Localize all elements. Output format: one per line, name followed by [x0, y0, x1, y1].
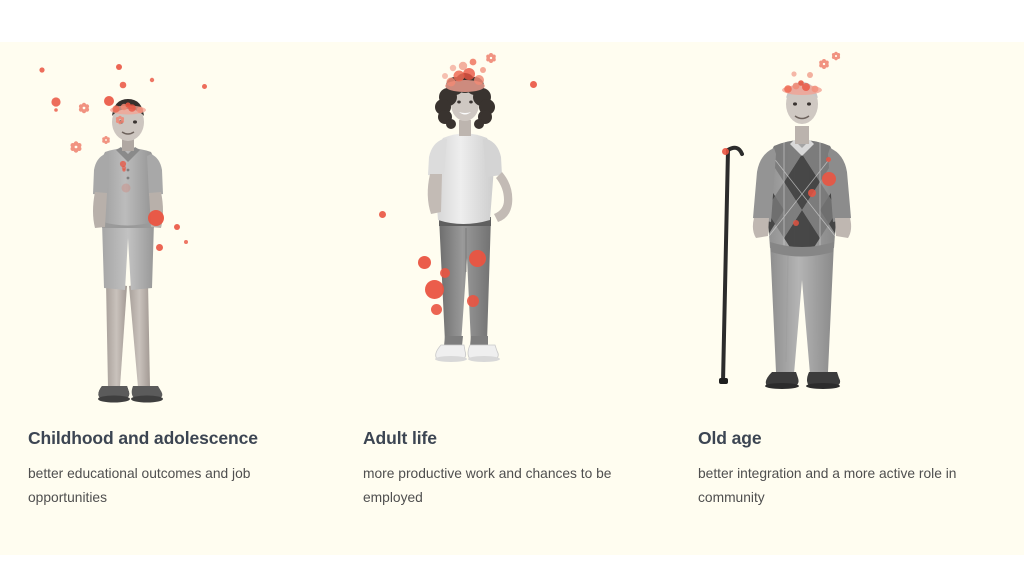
- accent-dot: [431, 304, 442, 315]
- three-column-grid: Childhood and adolescence better educati…: [0, 42, 1024, 555]
- accent-dot: [104, 96, 114, 106]
- accent-dot: [116, 64, 122, 70]
- flower-crown-decoration: [110, 102, 146, 114]
- elderly-figure-area: [698, 42, 1018, 420]
- flower-sprites: [819, 52, 840, 69]
- accent-dot: [467, 295, 479, 307]
- child-boy-photo: [28, 42, 348, 420]
- slide-root: Childhood and adolescence better educati…: [0, 0, 1024, 576]
- caption-title: Adult life: [363, 428, 675, 449]
- column-childhood: Childhood and adolescence better educati…: [28, 42, 363, 555]
- accent-dot: [826, 157, 831, 162]
- accent-dot: [530, 81, 537, 88]
- column-adult-life: Adult life more productive work and chan…: [363, 42, 698, 555]
- accent-dot: [793, 220, 799, 226]
- column-old-age: Old age better integration and a more ac…: [698, 42, 1024, 555]
- child-figure-area: [28, 42, 348, 420]
- caption-adult-life: Adult life more productive work and chan…: [363, 428, 675, 509]
- adult-figure-area: [363, 42, 683, 420]
- accent-dot: [156, 244, 163, 251]
- caption-title: Childhood and adolescence: [28, 428, 340, 449]
- accent-dot: [174, 224, 180, 230]
- accent-dot: [469, 250, 486, 267]
- caption-description: better integration and a more active rol…: [698, 462, 1003, 509]
- accent-dot: [184, 240, 188, 244]
- flower-sprites: [486, 53, 496, 63]
- accent-dot: [722, 148, 729, 155]
- caption-title: Old age: [698, 428, 1010, 449]
- flower-burst-decoration: [442, 59, 486, 92]
- caption-old-age: Old age better integration and a more ac…: [698, 428, 1010, 509]
- accent-dot: [418, 256, 431, 269]
- accent-dot: [379, 211, 386, 218]
- adult-woman-photo: [363, 42, 683, 420]
- accent-dot: [148, 210, 164, 226]
- accent-dot: [808, 189, 816, 197]
- accent-dot: [440, 268, 450, 278]
- accent-dot: [202, 84, 207, 89]
- caption-description: better educational outcomes and job oppo…: [28, 462, 328, 509]
- elderly-man-photo: [698, 42, 1018, 420]
- accent-dot: [425, 280, 444, 299]
- caption-description: more productive work and chances to be e…: [363, 462, 668, 509]
- accent-dot: [822, 172, 836, 186]
- flower-crown-decoration: [782, 71, 822, 95]
- walking-cane: [719, 148, 742, 384]
- caption-childhood: Childhood and adolescence better educati…: [28, 428, 340, 509]
